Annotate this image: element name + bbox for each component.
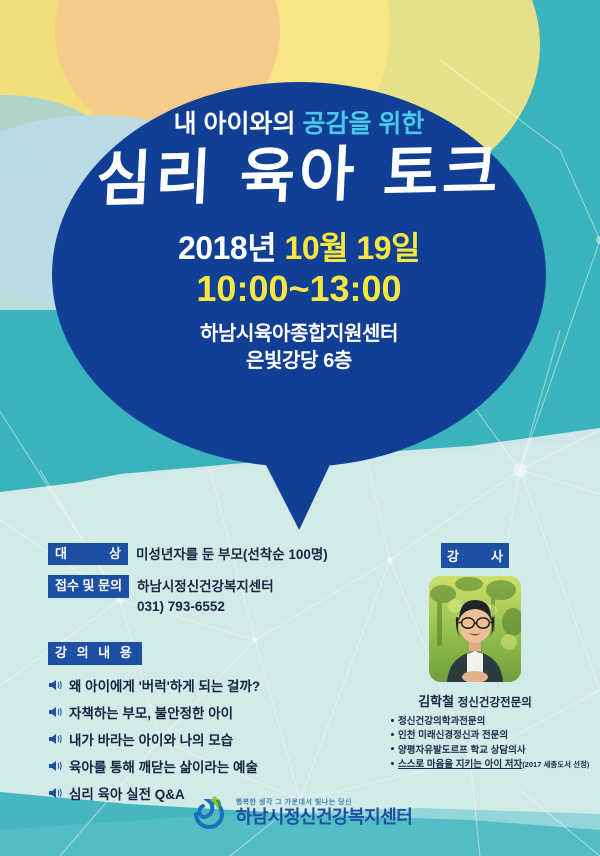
headline-prefix: 내 아이와의 [174, 110, 303, 138]
credential-text: 정신건강의학과전문의 [398, 716, 485, 727]
contact-phone[interactable]: 031) 793-6552 [137, 597, 274, 617]
bullet-icon [391, 719, 394, 722]
audience-value: 미성년자를 둔 부모(선착순 100명) [136, 543, 328, 565]
credential-item: 정신건강의학과전문의 [391, 715, 565, 729]
megaphone-icon [48, 706, 62, 718]
lecturer-photo [429, 576, 521, 682]
audience-label-char-1: 대 [55, 546, 67, 562]
topic-label: 내가 바라는 아이와 나의 모습 [69, 729, 233, 749]
lecturer-label-char-2: 사 [491, 546, 503, 565]
lecturer-portrait-illustration [429, 576, 521, 682]
audience-row: 대 상 미성년자를 둔 부모(선착순 100명) [48, 543, 368, 565]
event-date-monthday: 10월 19일 [285, 230, 420, 266]
footer-organization: 하남시정신건강복지센터 [236, 808, 413, 826]
event-venue: 하남시육아종합지원센터 은빛강당 6층 [52, 321, 546, 375]
event-date: 2018년 10월 19일 [52, 230, 546, 268]
venue-line-2: 은빛강당 6층 [52, 348, 546, 375]
megaphone-icon [48, 733, 62, 745]
topic-item: 육아를 통해 깨닫는 삶이라는 예술 [48, 756, 368, 776]
topic-item: 자책하는 부모, 불안정한 아이 [48, 702, 368, 722]
bullet-icon [391, 733, 394, 736]
lecturer-credentials: 정신건강의학과전문의 인천 미래신경정신과 전문의 양평자유발도르프 학교 상담… [385, 715, 565, 772]
contact-label: 접수 및 문의 [48, 575, 129, 597]
poster-root: 내 아이와의 공감을 위한 심리 육아 토크 2018년 10월 19일 10:… [0, 0, 600, 856]
megaphone-icon [48, 760, 62, 772]
headline-accent: 공감을 위한 [302, 110, 424, 138]
credential-item: 양평자유발도르프 학교 상담의사 [391, 744, 565, 758]
lecturer-section: 강 사 [385, 543, 565, 772]
lecturer-name: 김학철 [418, 694, 454, 709]
credential-item-book: 스스로 마음을 지키는 아이 저자(2017 세종도서 선정) [391, 758, 565, 772]
organization-logo-icon [188, 790, 230, 832]
topic-item: 내가 바라는 아이와 나의 모습 [48, 729, 368, 749]
info-section: 대 상 미성년자를 둔 부모(선착순 100명) 접수 및 문의 하남시정신건강… [48, 543, 368, 810]
credential-book-title: 스스로 마음을 지키는 아이 저자 [398, 759, 522, 770]
contact-row: 접수 및 문의 하남시정신건강복지센터 031) 793-6552 [48, 575, 368, 616]
bullet-icon [391, 747, 394, 750]
footer: 행복한 생각 그 가운데서 빛나는 당신 하남시정신건강복지센터 [0, 790, 600, 832]
topic-label: 왜 아이에게 '버럭'하게 되는 걸까? [69, 675, 260, 695]
venue-line-1: 하남시육아종합지원센터 [52, 321, 546, 348]
topic-item: 왜 아이에게 '버럭'하게 되는 걸까? [48, 675, 368, 695]
credential-item: 인천 미래신경정신과 전문의 [391, 729, 565, 743]
lecturer-name-line: 김학철 정신건강전문의 [385, 691, 565, 710]
main-title: 심리 육아 토크 [50, 140, 548, 213]
event-date-year: 2018년 [178, 230, 285, 266]
audience-value-text: 미성년자를 둔 부모(선착순 100명) [136, 545, 328, 565]
topic-label: 자책하는 부모, 불안정한 아이 [69, 702, 233, 722]
bullet-icon [391, 762, 394, 765]
megaphone-icon [48, 679, 62, 691]
audience-label-char-2: 상 [109, 546, 121, 562]
headline: 내 아이와의 공감을 위한 [52, 112, 546, 137]
contact-center-name: 하남시정신건강복지센터 [137, 577, 274, 597]
footer-text: 행복한 생각 그 가운데서 빛나는 당신 하남시정신건강복지센터 [236, 797, 413, 826]
credential-book-note: (2017 세종도서 선정) [522, 760, 589, 769]
topic-list: 왜 아이에게 '버럭'하게 되는 걸까? 자책하는 부모, 불안정한 아이 내가… [48, 675, 368, 803]
lecturer-label-char-1: 강 [447, 546, 459, 565]
credential-text: 인천 미래신경정신과 전문의 [398, 730, 508, 741]
footer-tagline: 행복한 생각 그 가운데서 빛나는 당신 [236, 797, 413, 807]
content-label: 강 의 내 용 [48, 642, 142, 664]
contact-value: 하남시정신건강복지센터 031) 793-6552 [137, 575, 274, 616]
lecturer-label: 강 사 [441, 543, 509, 568]
bubble-content: 내 아이와의 공감을 위한 심리 육아 토크 2018년 10월 19일 10:… [52, 82, 546, 467]
audience-label: 대 상 [48, 543, 128, 565]
credential-text: 양평자유발도르프 학교 상담의사 [398, 745, 526, 756]
event-time: 10:00~13:00 [52, 268, 546, 309]
topic-label: 육아를 통해 깨닫는 삶이라는 예술 [69, 756, 258, 776]
lecturer-title: 정신건강전문의 [458, 697, 532, 709]
